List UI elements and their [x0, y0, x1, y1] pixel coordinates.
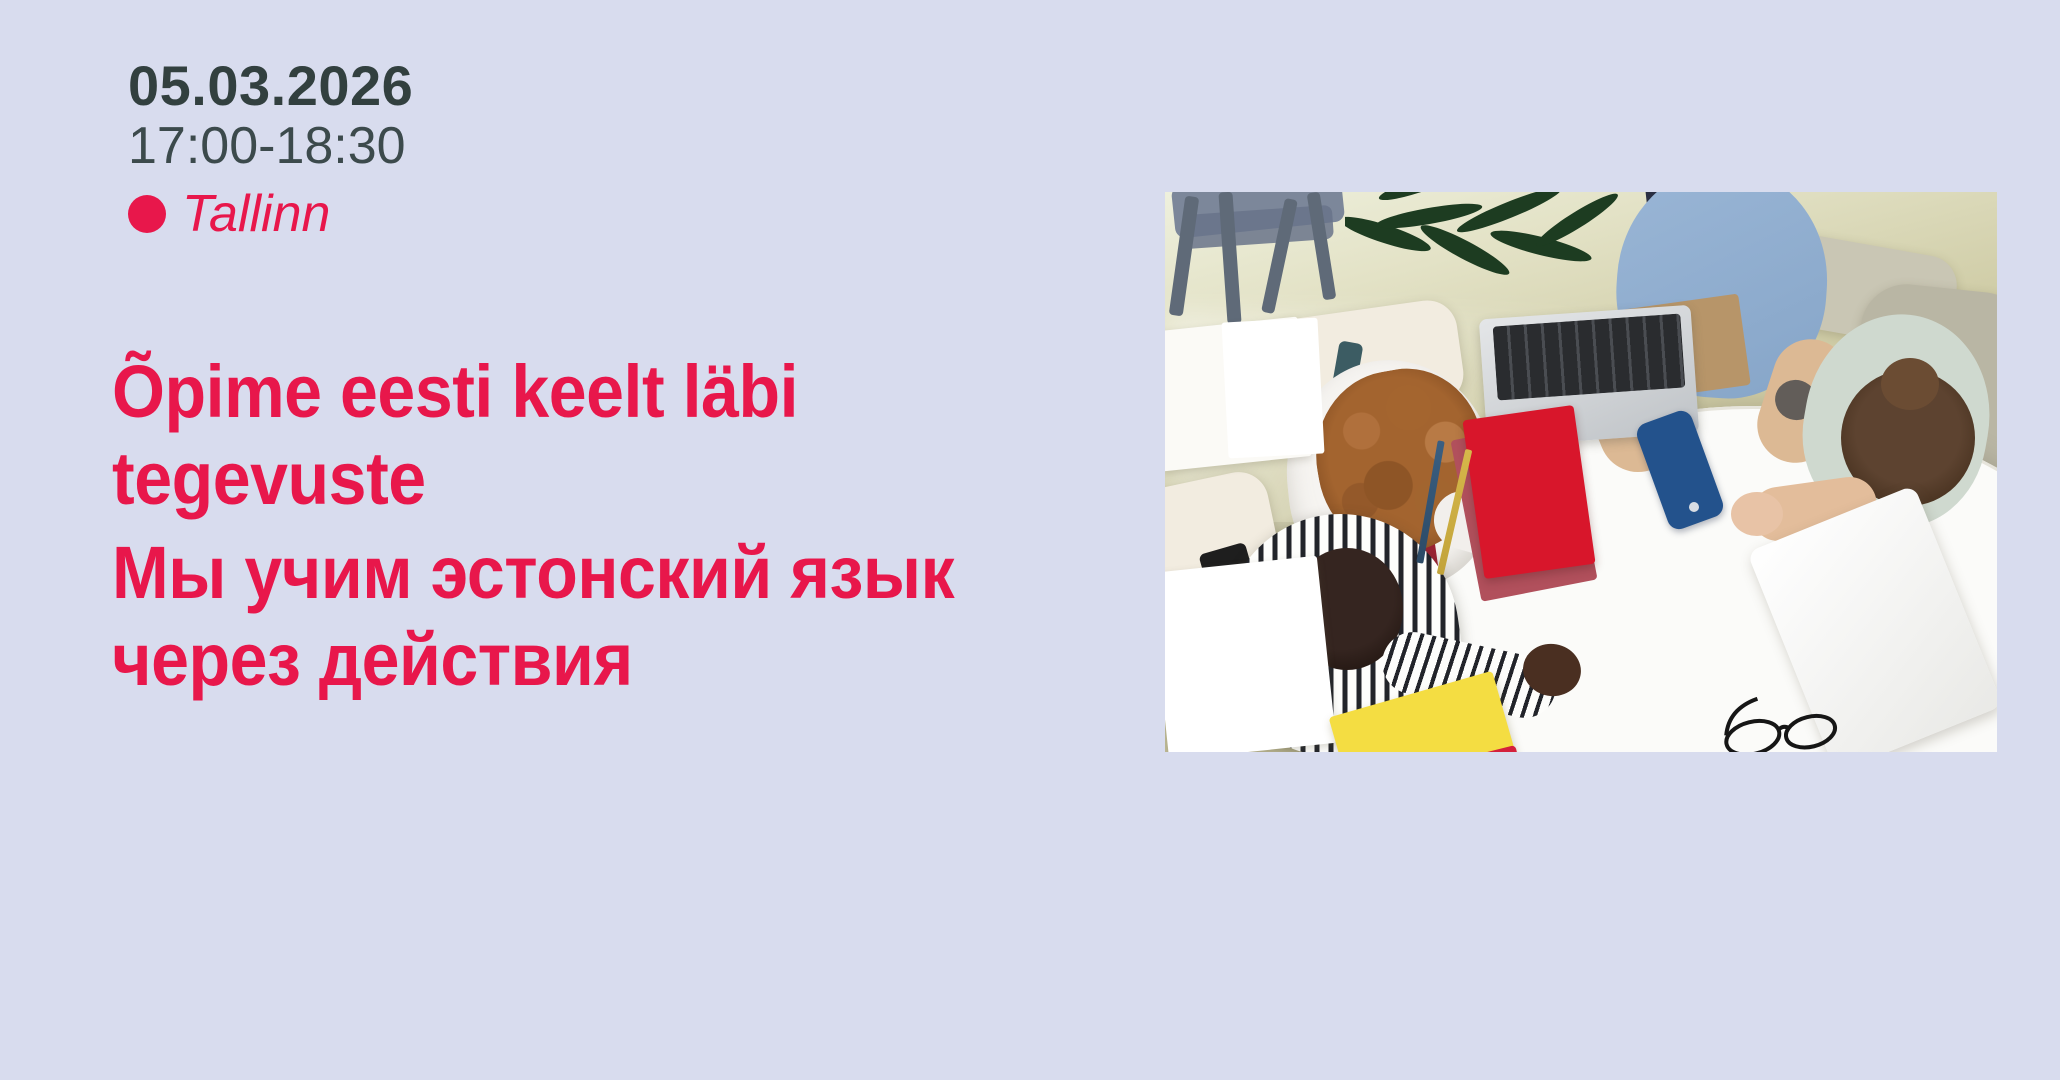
event-time: 17:00-18:30 — [128, 117, 413, 175]
photo-spiral-notepad — [1165, 556, 1336, 752]
photo-plant — [1345, 192, 1625, 304]
footer-logo-bar: Social Innovation Initiative ★ ★ ★ ★ ★ ★… — [0, 900, 2060, 1080]
photo-phone-camera — [1689, 502, 1699, 512]
location-marker-icon — [128, 195, 166, 233]
photo-laptop-keyboard — [1493, 314, 1686, 401]
headline-russian-line-1: Мы учим эстонский язык — [112, 529, 1050, 616]
event-meta-block: 05.03.2026 17:00-18:30 Tallinn — [128, 56, 413, 244]
photo-open-notebook-page — [1222, 318, 1325, 459]
photo-person-hair-bun — [1881, 358, 1939, 410]
event-location-row: Tallinn — [128, 184, 413, 244]
event-date: 05.03.2026 — [128, 56, 413, 115]
headline-estonian-line-2: tegevuste — [112, 435, 1050, 522]
headline-estonian-line-1: Õpime eesti keelt läbi — [112, 348, 1050, 435]
page-title: Õpime eesti keelt läbi tegevuste Мы учим… — [112, 348, 1132, 703]
event-poster: 05.03.2026 17:00-18:30 Tallinn Õpime ees… — [0, 0, 2060, 1080]
event-location: Tallinn — [182, 184, 330, 244]
photo-red-notebook — [1462, 405, 1595, 579]
event-photo — [1165, 192, 1997, 752]
headline-russian-line-2: через действия — [112, 616, 1050, 703]
photo-person-hand — [1731, 492, 1783, 536]
